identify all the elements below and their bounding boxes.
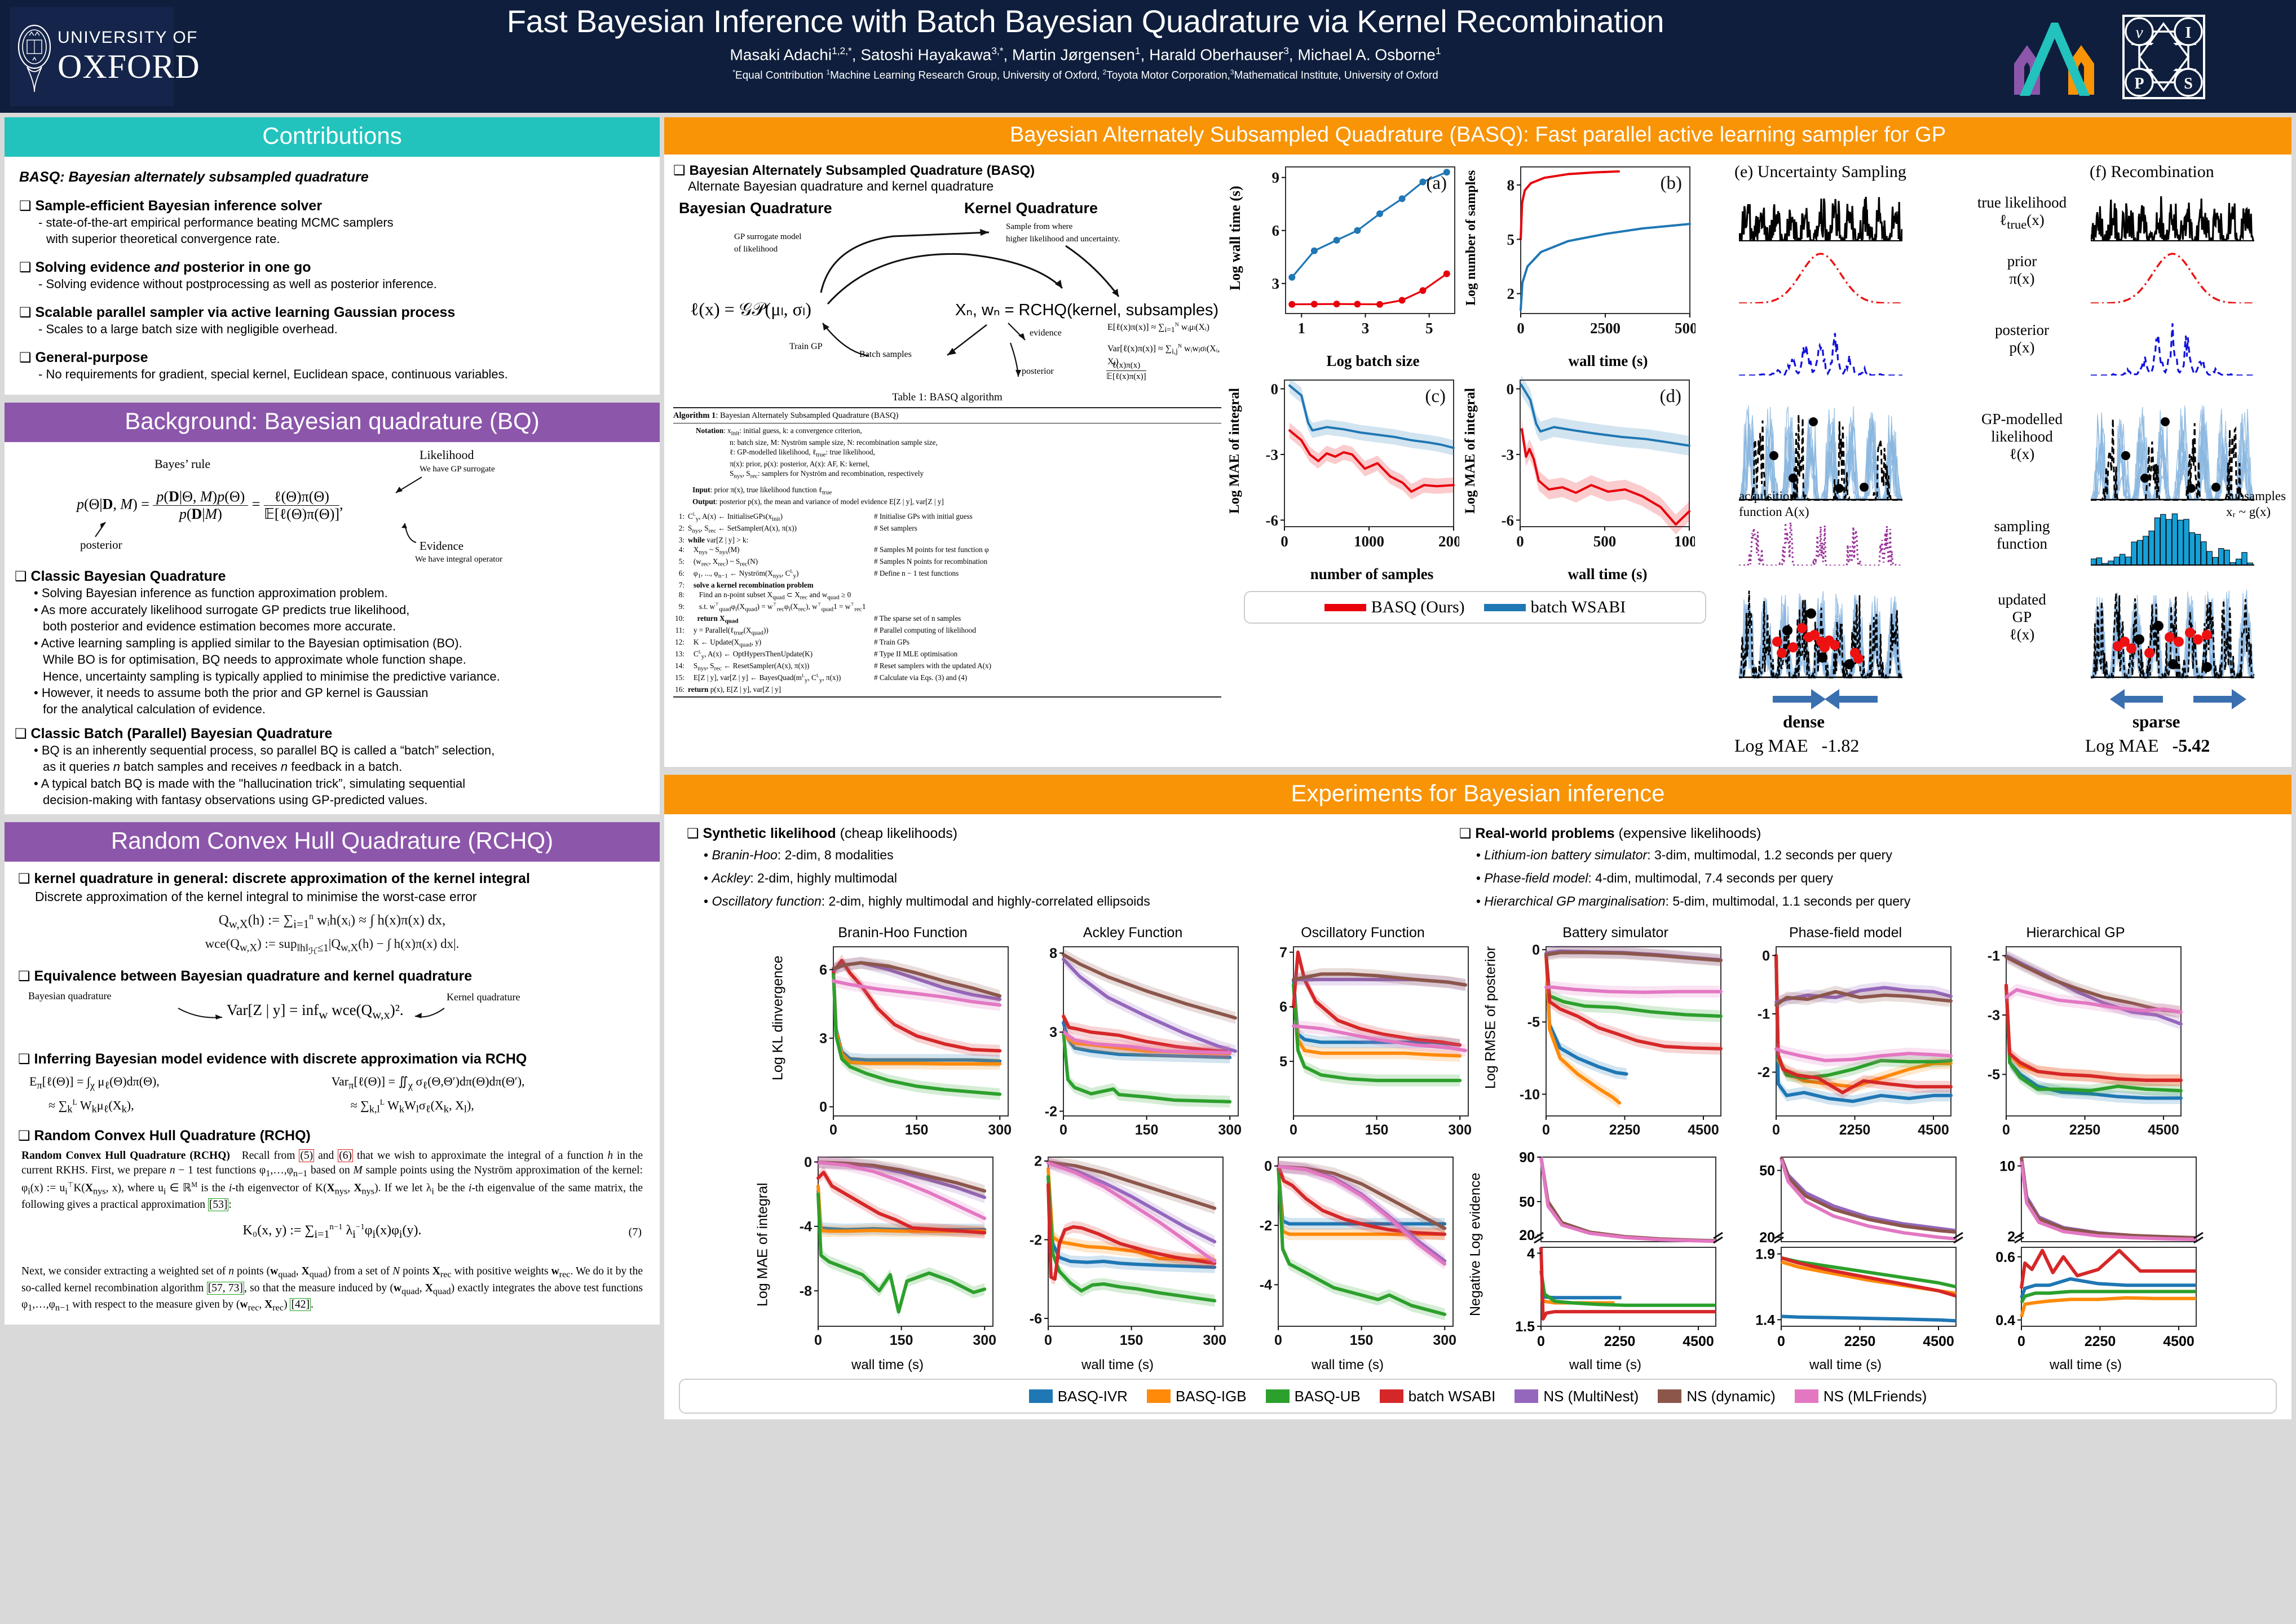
acquisition-label: acquisitionfunction A(x) (1739, 488, 1809, 519)
algorithm-step: 11: y = Parallel(ℓtrue(Xquad))# Parallel… (673, 625, 1221, 637)
exp-xlabel-ackley_mae: wall time (s) (1004, 1357, 1231, 1373)
rchq-para1: Random Convex Hull Quadrature (RCHQ) Rec… (18, 1149, 646, 1212)
svg-text:10: 10 (1999, 1159, 2015, 1175)
legend-swatch (1266, 1389, 1290, 1403)
exp-title-battery_rmse: Battery simulator (1502, 925, 1729, 941)
chart-xlabel-c: number of samples (1284, 566, 1459, 583)
chart-svg-phase_nlz: 20501.41.9022504500 (1727, 1151, 1964, 1358)
chart-svg-d: 05001000-6-30(d) (1478, 376, 1695, 570)
svg-text:4500: 4500 (2163, 1334, 2195, 1349)
posterior-plot-0 (1739, 314, 1902, 376)
rchq-eq7-row: K₀(x, y) := ∑i=1n−1 λi−1φi(x)φi(y). (7) (18, 1223, 646, 1257)
svg-text:7: 7 (1279, 945, 1287, 960)
acquisition-function-plot (1739, 512, 1902, 566)
page-title: Fast Bayesian Inference with Batch Bayes… (186, 5, 1985, 38)
exp-title-osc_kl: Oscillatory Function (1249, 925, 1476, 941)
svg-text:-2: -2 (1045, 1104, 1057, 1119)
background-block: ❑Classic Batch (Parallel) Bayesian Quadr… (15, 726, 650, 809)
chart-svg-osc_mae: 0150300-4-20 (1234, 1151, 1461, 1358)
ef-row-label-3: GP-modelledlikelihoodℓ(x) (1966, 411, 2078, 463)
exp-chart-battery_rmse: Log RMSE of posteriorBattery simulator02… (1480, 925, 1729, 1150)
svg-text:2: 2 (2007, 1229, 2015, 1245)
svg-text:1.5: 1.5 (1515, 1319, 1535, 1335)
integral-operator-label: We have integral operator (415, 555, 502, 564)
algorithm-title: Algorithm 1: Bayesian Alternately Subsam… (673, 411, 1221, 423)
svg-text:-1: -1 (1758, 1007, 1770, 1022)
exp-chart-battery_nlz: Negative Log evidence2050901.54022504500… (1464, 1151, 1724, 1373)
contribution-item: ❑Solving evidence and posterior in one g… (19, 259, 645, 292)
notation-line: ℓ: GP-modelled likelihood, ℓtrue: true l… (730, 447, 1221, 459)
batch-samples-label: Batch samples (859, 350, 912, 360)
svg-text:300: 300 (1218, 1122, 1242, 1138)
legend-swatch-basq (1324, 604, 1366, 611)
train-gp-label: Train GP (789, 342, 823, 352)
contributions-subtitle: BASQ: Bayesian alternately subsampled qu… (19, 169, 645, 186)
svg-text:0: 0 (1532, 942, 1540, 958)
algorithm-input: Input: prior π(x), true likelihood funct… (673, 485, 1221, 497)
sparse-label: sparse (2132, 712, 2180, 732)
exp-chart-hier_rmse: Hierarchical GP022504500-5-3-1 (1962, 925, 2189, 1150)
svg-text:0: 0 (819, 1100, 827, 1115)
algorithm-step: 3:while var[Z | y] > k: (673, 535, 1221, 545)
basq-panel: Bayesian Alternately Subsampled Quadratu… (664, 117, 2291, 767)
rchq-para2: Next, we consider extracting a weighted … (18, 1264, 646, 1314)
svg-text:300: 300 (988, 1122, 1012, 1138)
neurips-logo-icon: ν I P S (2120, 11, 2207, 101)
svg-text:8: 8 (1507, 177, 1515, 194)
kq-equation: Xₙ, wₙ = RCHQ(kernel, subsamples) (955, 300, 1218, 320)
svg-text:150: 150 (1120, 1332, 1143, 1348)
synthetic-title: ❑Synthetic likelihood (cheap likelihoods… (687, 826, 1437, 842)
sparse-arrows-icon (2108, 687, 2249, 712)
posterior-equation: ℓ(x)π(x) 𝔼[ℓ(x)π(x)] (1106, 361, 1146, 382)
basq-b-title: ❑Bayesian Alternately Subsampled Quadrat… (673, 162, 1221, 179)
contribution-item: ❑Sample-efficient Bayesian inference sol… (19, 198, 645, 247)
rchq-b2-title: ❑Equivalence between Bayesian quadrature… (18, 968, 646, 985)
gp-surrogate-label: We have GP surrogate (420, 465, 495, 474)
synthetic-list: • Branin-Hoo: 2-dim, 8 modalities• Ackle… (687, 848, 1437, 909)
svg-text:5: 5 (1507, 231, 1515, 248)
chart-wrap-d: Log MAE of integral05001000-6-30(d)wall … (1463, 376, 1695, 583)
svg-text:(b): (b) (1661, 173, 1682, 193)
svg-text:-4: -4 (1260, 1277, 1272, 1293)
svg-text:-5: -5 (1988, 1067, 2000, 1083)
algorithm-step: 10: return Xquad# The sparse set of n sa… (673, 614, 1221, 625)
svg-text:4500: 4500 (2148, 1122, 2179, 1138)
svg-text:2: 2 (1507, 285, 1515, 302)
basq-charts-col: Log wall time (s)135369(a)Log batch size… (1227, 162, 1723, 760)
rchq-b1-sub: Discrete approximation of the kernel int… (35, 888, 646, 905)
contributions-list: ❑Sample-efficient Bayesian inference sol… (19, 198, 645, 382)
chart-svg-phase_rmse: 022504500-2-10 (1732, 941, 1959, 1148)
svg-text:0: 0 (1517, 320, 1525, 337)
exp-ylabel-branin_kl: Log KL dinvergence (767, 925, 789, 1111)
rchq-b4-title: ❑Random Convex Hull Quadrature (RCHQ) (18, 1128, 646, 1144)
svg-text:90: 90 (1519, 1151, 1535, 1166)
posterior-plot-1 (2091, 314, 2254, 376)
exp-title-branin_kl: Branin-Hoo Function (789, 925, 1016, 941)
list-item: • Ackley: 2-dim, highly multimodal (704, 871, 1437, 886)
list-item: • Lithium-ion battery simulator: 3-dim, … (1476, 848, 2269, 863)
legend-item-basq: BASQ (Ours) (1324, 598, 1465, 617)
algorithm-box: Algorithm 1: Bayesian Alternately Subsam… (673, 407, 1221, 698)
rchq-eq4-row: Eπ[ℓ(Θ)] = ∫χ μℓ(Θ)dπ(Θ), ≈ ∑kL Wkμℓ(Xk)… (18, 1074, 646, 1115)
table-caption: Table 1: BASQ algorithm (673, 391, 1221, 404)
svg-text:2000: 2000 (1438, 533, 1459, 550)
svg-text:-4: -4 (800, 1219, 812, 1235)
chart-svg-ackley_mae: 0150300-6-22 (1004, 1151, 1231, 1358)
svg-text:4500: 4500 (1683, 1334, 1714, 1349)
arrow-posterior-kq-icon (1006, 342, 1028, 387)
chart-wrap-b: Log number of samples025005000258(b)wall… (1464, 162, 1695, 370)
svg-text:500: 500 (1593, 533, 1617, 550)
svg-text:-3: -3 (1266, 446, 1279, 463)
notation-line: n: batch size, M: Nyström sample size, N… (730, 438, 1221, 447)
prior-plot-0 (1739, 247, 1902, 303)
exp-chart-branin_kl: Log KL dinvergenceBranin-Hoo Function015… (767, 925, 1016, 1150)
algorithm-step: 14: Snys, Srec ← ResetSampler(A(x), π(x)… (673, 661, 1221, 673)
svg-text:0: 0 (1290, 1122, 1297, 1138)
svg-text:0: 0 (1516, 533, 1524, 550)
left-column: Contributions BASQ: Bayesian alternately… (5, 117, 660, 1325)
arrow-down-kq-icon (1062, 244, 1130, 306)
algorithm-step: 8: Find an n-point subset Xquad ⊂ Xrec a… (673, 590, 1221, 602)
rchq-panel: Random Convex Hull Quadrature (RCHQ) ❑ke… (5, 822, 660, 1325)
algorithm-step: 5: (wrec, Xrec) ~ Srec(N)# Samples N poi… (673, 557, 1221, 568)
exp-title-hier_rmse: Hierarchical GP (1962, 925, 2189, 941)
legend-label: BASQ-IVR (1058, 1388, 1128, 1405)
rchq-eq3: Var[Z | y] = infw wce(Qw,x)². (227, 1001, 404, 1022)
svg-text:-2: -2 (1758, 1065, 1770, 1080)
svg-text:(d): (d) (1660, 386, 1681, 407)
svg-text:2250: 2250 (1604, 1334, 1636, 1349)
evidence-equation: E[ℓ(x)π(x)] ≈ ∑i=1N wᵢμₗ(Xᵢ) (1107, 321, 1209, 334)
svg-text:0: 0 (2017, 1334, 2025, 1349)
exp-chart-osc_mae: 0150300-4-20wall time (s) (1234, 1151, 1461, 1373)
experiments-heading: Experiments for Bayesian inference (664, 775, 2291, 814)
basq-diagram-col: ❑Bayesian Alternately Subsampled Quadrat… (673, 162, 1221, 760)
legend-item: BASQ-UB (1266, 1388, 1361, 1405)
experiments-realworld: ❑Real-world problems (expensive likeliho… (1459, 826, 2269, 917)
legend-item: batch WSABI (1380, 1388, 1496, 1405)
svg-text:4500: 4500 (1918, 1122, 1949, 1138)
background-panel: Background: Bayesian quadrature (BQ) Bay… (5, 403, 660, 814)
legend-swatch (1658, 1389, 1681, 1403)
exp-chart-osc_kl: Oscillatory Function0150300567 (1249, 925, 1476, 1150)
chart-ylabel-b: Log number of samples (1464, 162, 1479, 314)
legend-swatch (1515, 1389, 1538, 1403)
posterior-label: posterior (80, 538, 122, 552)
svg-text:S: S (2184, 75, 2193, 92)
kq-column-title: Kernel Quadrature (964, 200, 1098, 217)
contributions-heading: Contributions (5, 117, 660, 157)
chart-ylabel-c: Log MAE of integral (1227, 376, 1243, 527)
contributions-panel: Contributions BASQ: Bayesian alternately… (5, 117, 660, 395)
legend-item: NS (MultiNest) (1515, 1388, 1639, 1405)
svg-text:8: 8 (1049, 946, 1057, 961)
legend-item: BASQ-IGB (1147, 1388, 1247, 1405)
svg-text:0: 0 (1264, 1159, 1272, 1175)
legend-swatch-wsabi (1484, 604, 1526, 611)
experiments-synthetic: ❑Synthetic likelihood (cheap likelihoods… (687, 826, 1437, 917)
svg-text:0: 0 (1542, 1122, 1550, 1138)
chart-svg-branin_kl: 0150300036 (789, 941, 1016, 1148)
svg-text:5000: 5000 (1675, 320, 1695, 337)
chart-a: Log wall time (s)135369(a)Log batch size (1227, 162, 1460, 370)
right-column: Bayesian Alternately Subsampled Quadratu… (664, 117, 2291, 1419)
bq-label: Bayesian quadrature (28, 990, 111, 1002)
chart-svg-b: 025005000258(b) (1479, 162, 1695, 356)
rchq-heading: Random Convex Hull Quadrature (RCHQ) (5, 822, 660, 862)
svg-text:6: 6 (1272, 222, 1280, 239)
svg-text:150: 150 (1365, 1122, 1389, 1138)
exp-chart-phase_nlz: 20501.41.9022504500wall time (s) (1727, 1151, 1964, 1373)
chart-c: Log MAE of integral010002000-6-30(c)numb… (1227, 376, 1459, 583)
contribution-item: ❑Scalable parallel sampler via active le… (19, 304, 645, 337)
list-item: • Hierarchical GP marginalisation: 5-dim… (1476, 894, 2269, 909)
arrow-batch-samples-icon (938, 323, 992, 362)
svg-text:0: 0 (804, 1154, 812, 1170)
svg-text:0.6: 0.6 (1995, 1250, 2015, 1265)
updated-gp-plot-1 (2091, 574, 2254, 678)
svg-text:-6: -6 (1266, 512, 1279, 529)
chart-svg-battery_nlz: 2050901.54022504500 (1487, 1151, 1724, 1358)
svg-text:2250: 2250 (1609, 1122, 1641, 1138)
exp-chart-ackley_kl: Ackley Function0150300-238 (1019, 925, 1246, 1150)
svg-text:2250: 2250 (1844, 1334, 1876, 1349)
chart-wrap-c: Log MAE of integral010002000-6-30(c)numb… (1227, 376, 1459, 583)
basq-posterior-row: posterior ℓ(x)π(x) 𝔼[ℓ(x)π(x)] (673, 363, 1221, 390)
arrow-left-icon (413, 1003, 447, 1023)
rchq-eq1: Qw,X(h) := ∑i=1n wᵢh(xᵢ) ≈ ∫ h(x)π(x) dx… (18, 912, 646, 931)
svg-text:300: 300 (973, 1332, 996, 1348)
basq-heading: Bayesian Alternately Subsampled Quadratu… (664, 117, 2291, 155)
machine-learning-logo-icon (2007, 10, 2103, 100)
panel-e-label: (e) Uncertainty Sampling (1734, 162, 1906, 182)
algorithm-step: 6: φ1, ..., φn−1 ← Nyström(Xnys, CLy)# D… (673, 568, 1221, 580)
realworld-list: • Lithium-ion battery simulator: 3-dim, … (1459, 848, 2269, 909)
svg-text:2: 2 (1034, 1154, 1042, 1170)
svg-text:0: 0 (1762, 948, 1770, 964)
svg-text:1000: 1000 (1354, 533, 1384, 550)
svg-text:0: 0 (1537, 1334, 1545, 1349)
legend-item-wsabi: batch WSABI (1484, 598, 1626, 617)
poster-header: UNIVERSITY OF OXFORD Fast Bayesian Infer… (0, 0, 2296, 113)
bayes-formula: p(Θ|D, M) = p(D|Θ, M)p(Θ) p(D|M) = ℓ(Θ)π… (77, 488, 343, 523)
svg-text:-2: -2 (1030, 1232, 1042, 1248)
algorithm-step: 1:CLy, A(x) ← InitialiseGPs(xinit)# Init… (673, 511, 1221, 523)
legend-swatch (1147, 1389, 1171, 1403)
rchq-eq4b: Varπ[ℓ(Θ)] = ∬χ σℓ(Θ,Θ′)dπ(Θ)dπ(Θ′), (332, 1074, 646, 1091)
svg-text:ν: ν (2135, 23, 2143, 42)
legend-label-wsabi: batch WSABI (1531, 598, 1626, 617)
rchq-equiv-figure: Bayesian quadrature Kernel quadrature Va… (18, 988, 646, 1042)
svg-text:3: 3 (1272, 275, 1280, 292)
subsample-histogram (2091, 512, 2254, 566)
svg-text:20: 20 (1759, 1230, 1775, 1246)
svg-text:300: 300 (1448, 1122, 1472, 1138)
svg-text:2250: 2250 (2069, 1122, 2101, 1138)
svg-text:-1: -1 (1988, 948, 2000, 964)
exp-title-ackley_kl: Ackley Function (1019, 925, 1246, 941)
svg-text:300: 300 (1433, 1332, 1456, 1348)
legend-swatch (1029, 1389, 1053, 1403)
svg-text:(c): (c) (1425, 386, 1446, 407)
background-heading: Background: Bayesian quadrature (BQ) (5, 403, 660, 442)
algorithm-step: 16:return p(x), E[Z | y], var[Z | y] (673, 685, 1221, 694)
algorithm-step: 4: Xnys ~ Snys(M)# Samples M points for … (673, 545, 1221, 557)
gp-likelihood-plot-0 (1739, 388, 1902, 501)
svg-text:6: 6 (819, 962, 827, 978)
svg-text:1000: 1000 (1674, 533, 1695, 550)
logmae-e: Log MAE -1.82 (1734, 735, 1859, 756)
legend-label: BASQ-IGB (1176, 1388, 1247, 1405)
kq-label: Kernel quadrature (447, 991, 520, 1003)
evidence-label: Evidence (420, 539, 463, 553)
svg-text:0: 0 (1274, 1332, 1282, 1348)
true-likelihood-plot-1 (2091, 187, 2254, 241)
legend-item: BASQ-IVR (1029, 1388, 1128, 1405)
notation-line: π(x): prior, p(x): posterior, A(x): AF, … (730, 459, 1221, 469)
gp-surrogate-caption1: GP surrogate model (734, 232, 801, 242)
exp-xlabel-branin_mae: wall time (s) (774, 1357, 1001, 1373)
bq-column-title: Bayesian Quadrature (679, 200, 832, 217)
svg-text:P: P (2134, 75, 2144, 92)
background-block: ❑Classic Bayesian Quadrature• Solving Ba… (15, 568, 650, 718)
ef-figure: (e) Uncertainty Sampling(f) Recombinatio… (1729, 162, 2287, 760)
exp-xlabel-phase_nlz: wall time (s) (1727, 1357, 1964, 1373)
svg-text:6: 6 (1279, 999, 1287, 1015)
chart-d: Log MAE of integral05001000-6-30(d)wall … (1463, 376, 1695, 583)
algorithm-step: 9: s.t. w⊤quadφi(Xquad) = w⊤recφi(Xrec),… (673, 602, 1221, 614)
svg-text:3: 3 (1049, 1025, 1057, 1040)
svg-text:150: 150 (1135, 1122, 1159, 1138)
exp-ylabel-branin_mae: Log MAE of integral (752, 1151, 774, 1338)
chart-b: Log number of samples025005000258(b)wall… (1464, 162, 1695, 370)
svg-text:1.9: 1.9 (1755, 1247, 1775, 1263)
exp-xlabel-osc_mae: wall time (s) (1234, 1357, 1461, 1373)
svg-text:150: 150 (905, 1122, 929, 1138)
svg-text:-2: -2 (1260, 1218, 1272, 1234)
svg-text:5: 5 (1425, 320, 1433, 337)
ef-row-label-5: updatedGPℓ(x) (1966, 591, 2078, 643)
svg-text:0: 0 (1507, 381, 1515, 398)
ef-row-label-0: true likelihoodℓtrue(x) (1966, 194, 2078, 232)
oxford-logo: UNIVERSITY OF OXFORD (10, 7, 174, 106)
algorithm-step: 2:Snys, Srec ← SetSampler(A(x), π(x))# S… (673, 523, 1221, 535)
arrow-evidence-icon (387, 520, 421, 545)
updated-gp-plot-0 (1739, 574, 1902, 678)
bayes-rule-figure: Bayes’ rule Likelihood We have GP surrog… (15, 448, 650, 561)
legend-label: NS (MLFriends) (1823, 1388, 1927, 1405)
svg-text:0: 0 (1777, 1334, 1785, 1349)
basq-legend: BASQ (Ours) batch WSABI (1244, 591, 1706, 624)
panel-ef: (e) Uncertainty Sampling(f) Recombinatio… (1729, 162, 2287, 760)
svg-text:4500: 4500 (1923, 1334, 1954, 1349)
realworld-title: ❑Real-world problems (expensive likeliho… (1459, 826, 2269, 842)
svg-text:2250: 2250 (1839, 1122, 1871, 1138)
legend-item: NS (dynamic) (1658, 1388, 1775, 1405)
chart-svg-a: 135369(a) (1244, 162, 1460, 356)
logmae-f: Log MAE -5.42 (2085, 735, 2210, 756)
svg-text:-3: -3 (1988, 1008, 2000, 1023)
chart-svg-c: 010002000-6-30(c) (1243, 376, 1459, 570)
svg-text:0: 0 (1044, 1332, 1052, 1348)
chart-wrap-a: Log wall time (s)135369(a)Log batch size (1227, 162, 1460, 370)
notation-line: Snys, Srec: samplers for Nyström and rec… (730, 469, 1221, 480)
arrow-likelihood-icon (387, 475, 426, 496)
legend-item: NS (MLFriends) (1795, 1388, 1927, 1405)
svg-text:-10: -10 (1520, 1087, 1540, 1102)
svg-text:2250: 2250 (2085, 1334, 2116, 1349)
svg-text:0: 0 (829, 1122, 837, 1138)
list-item: • Oscillatory function: 2-dim, highly mu… (704, 894, 1437, 909)
posterior-kq-label: posterior (1022, 367, 1054, 377)
svg-text:1: 1 (1298, 320, 1306, 337)
algorithm-notation: Notation: xinit: initial guess, k: a con… (673, 426, 1221, 480)
svg-text:I: I (2185, 24, 2192, 42)
author-list: Masaki Adachi1,2,*, Satoshi Hayakawa3,*,… (186, 45, 1985, 64)
rchq-eq7-number: (7) (629, 1226, 642, 1239)
sample-from-caption1: Sample from where (1006, 222, 1072, 232)
dense-label: dense (1783, 712, 1825, 732)
svg-text:0: 0 (1271, 381, 1279, 398)
svg-text:-5: -5 (1527, 1014, 1540, 1030)
ef-row-label-4: samplingfunction (1966, 518, 2078, 553)
evidence-kq-label: evidence (1030, 328, 1062, 338)
svg-text:3: 3 (1362, 320, 1370, 337)
svg-text:0.4: 0.4 (1995, 1313, 2015, 1329)
svg-text:0: 0 (1281, 533, 1288, 550)
arrow-right-icon (176, 1003, 227, 1023)
arrow-posterior-icon (91, 519, 113, 538)
legend-swatch (1380, 1389, 1403, 1403)
subsamples-label: subsamplesxᵣ ~ g(x) (2226, 488, 2286, 519)
rchq-eq4a: Eπ[ℓ(Θ)] = ∫χ μℓ(Θ)dπ(Θ), (29, 1074, 303, 1091)
exp-chart-phase_rmse: Phase-field model022504500-2-10 (1732, 925, 1959, 1150)
experiments-legend: BASQ-IVRBASQ-IGBBASQ-UBbatch WSABINS (Mu… (679, 1379, 2277, 1414)
oxford-wordmark: UNIVERSITY OF OXFORD (58, 29, 200, 83)
exp-title-phase_rmse: Phase-field model (1732, 925, 1959, 941)
svg-text:0: 0 (1772, 1122, 1780, 1138)
background-blocks: ❑Classic Bayesian Quadrature• Solving Ba… (15, 568, 650, 809)
legend-label: BASQ-UB (1295, 1388, 1361, 1405)
svg-text:9: 9 (1272, 169, 1280, 186)
basq-b-sub: Alternate Bayesian quadrature and kernel… (688, 179, 1221, 194)
chart-svg-hier_nlz: 2100.40.6022504500 (1967, 1151, 2204, 1358)
ef-row-label-1: priorπ(x) (1966, 253, 2078, 288)
legend-label-basq: BASQ (Ours) (1371, 598, 1465, 617)
prior-plot-1 (2091, 247, 2254, 303)
exp-xlabel-battery_nlz: wall time (s) (1487, 1357, 1724, 1373)
chart-svg-battery_rmse: 022504500-10-50 (1502, 941, 1729, 1148)
algorithm-step: 7: solve a kernel recombination problem (673, 580, 1221, 590)
svg-text:50: 50 (1519, 1194, 1535, 1210)
svg-text:20: 20 (1519, 1228, 1535, 1243)
svg-text:3: 3 (819, 1031, 827, 1047)
svg-text:(a): (a) (1426, 173, 1447, 193)
exp-ylabel-battery_rmse: Log RMSE of posterior (1480, 925, 1502, 1111)
ef-row-label-2: posteriorp(x) (1966, 321, 2078, 356)
chart-svg-ackley_kl: 0150300-238 (1019, 941, 1246, 1148)
likelihood-label: Likelihood (420, 448, 474, 462)
chart-ylabel-d: Log MAE of integral (1463, 376, 1478, 527)
legend-swatch (1795, 1389, 1818, 1403)
rchq-b1-title: ❑kernel quadrature in general: discrete … (18, 871, 646, 887)
oxford-crest-icon (17, 17, 52, 95)
oxford-line2: OXFORD (58, 50, 200, 83)
list-item: • Phase-field model: 4-dim, multimodal, … (1476, 871, 2269, 886)
